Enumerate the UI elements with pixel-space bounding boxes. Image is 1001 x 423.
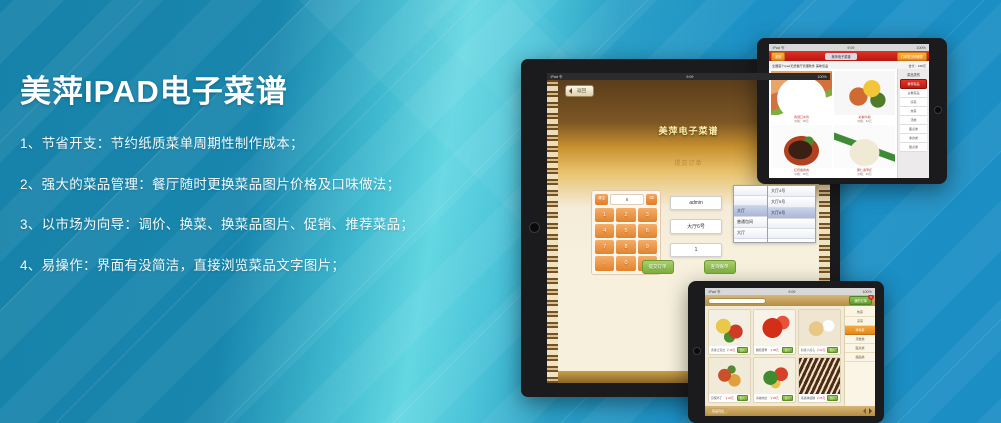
catalog-note-left: 全国首个ipad无纸餐厅管理软件 美味佳品 [772,63,828,68]
order-fields: admin 大厅6号 1 [670,196,722,266]
table-number-cell-5[interactable]: . [768,229,815,239]
dish-footer: 黑森林蛋糕 ￥26元 加入 [799,394,840,402]
dish-footer: 香辣土豆丝 ￥18元 加入 [709,346,750,354]
dish-name: 糖醋里脊 [756,348,767,352]
keypad-key-7[interactable]: 7 [595,240,614,254]
backspace-icon[interactable]: ⌫ [646,194,657,205]
dish-price: ￥38元 [770,348,779,352]
menu-app: 我的订单 6 香辣土豆丝 ￥18元 加入 [705,295,875,416]
menu-dish-card[interactable]: 黑森林蛋糕 ￥26元 加入 [798,357,841,403]
menu-header: 我的订单 6 [705,295,875,306]
keypad-key-1[interactable]: 1 [595,208,614,222]
table-area-cell-1[interactable]: . [734,186,767,196]
catalog-title: 美萍电子菜谱 [825,53,856,60]
dish-image [754,358,795,394]
sidebar-item-dessert[interactable]: 甜点类 [900,143,927,152]
screen-topright: iPad 令 9:09 100% 返回 美萍电子菜谱 订单提交明细表 全国首个i… [769,44,929,178]
table-area-cell-3[interactable]: 大厅 [734,206,767,217]
keypad-key-5[interactable]: 5 [616,224,635,238]
table-area-cell-2[interactable]: . [734,196,767,206]
banner-copy: 美萍IPAD电子菜谱 1、节省开支：节约纸质菜单周期性制作成本； 2、强大的菜品… [20,66,460,299]
promo-banner: 美萍IPAD电子菜谱 1、节省开支：节约纸质菜单周期性制作成本； 2、强大的菜品… [0,0,1001,423]
feature-bullet-4: 4、易操作：界面有没简洁，直接浏览菜品文字图片； [20,259,460,273]
add-to-order-button[interactable]: 加入 [827,347,838,353]
home-button-topright[interactable] [934,106,942,114]
catalog-app: 返回 美萍电子菜谱 订单提交明细表 全国首个ipad无纸餐厅管理软件 美味佳品 … [769,51,929,178]
dish-image [709,358,750,394]
sidebar-item-dessert[interactable]: 甜品类 [845,353,875,362]
add-to-order-button[interactable]: 加入 [737,347,748,353]
catalog-back-button[interactable]: 返回 [771,52,785,61]
status-bar-clock-br: 9:09 [788,289,795,294]
pager-controls [863,408,872,414]
dish-price: 价格：38元 [771,119,832,123]
keypad-display: 6 [610,194,644,205]
sidebar-title: 菜品类别 [900,71,927,79]
menu-body: 香辣土豆丝 ￥18元 加入 糖醋里脊 ￥38元 加入 [705,306,875,406]
table-number-cell-1[interactable]: 大厅4号 [768,186,815,197]
dish-footer: 宫保鸡丁 ￥32元 加入 [709,394,750,402]
menu-category-sidebar: 热菜 凉菜 特色菜 汤羹类 面点类 甜品类 [844,306,875,406]
status-bar-carrier-br: iPad 令 [709,289,721,294]
sidebar-item-hot[interactable]: 热菜 [900,107,927,116]
sidebar-item-pastry[interactable]: 面点类 [900,125,927,134]
keypad-clear-button[interactable]: 清空 [595,194,608,205]
keypad-key-8[interactable]: 8 [616,240,635,254]
catalog-body: 香辣口水鸡 价格：38元 彩椒牛柳 价格：42元 红烧酱香肉 价格：48元 [769,69,929,178]
ipad-device-bottomright: iPad 令 9:09 100% 我的订单 6 [688,281,884,423]
dish-price: ￥26元 [817,396,826,400]
sidebar-item-specialty[interactable]: 特色菜 [845,326,875,335]
keypad-key-4[interactable]: 4 [595,224,614,238]
home-button-main[interactable] [529,222,540,233]
catalog-dish-grid: 香辣口水鸡 价格：38元 彩椒牛柳 价格：42元 红烧酱香肉 价格：48元 [769,69,897,178]
feature-bullet-3: 3、以市场为向导：调价、换菜、换菜品图片、促销、推荐菜品； [20,218,460,232]
keypad-top-row: 清空 6 ⌫ [595,194,657,205]
catalog-header: 返回 美萍电子菜谱 订单提交明细表 [769,51,929,61]
sidebar-item-soup[interactable]: 汤类 [900,116,927,125]
sidebar-item-vegetarian[interactable]: 素食类 [900,134,927,143]
status-bar-clock: 9:09 [686,74,693,79]
status-bar-battery-br: 100% [862,289,871,294]
menu-dish-card[interactable]: 糖醋里脊 ￥38元 加入 [753,309,796,355]
add-to-order-button[interactable]: 加入 [782,395,793,401]
catalog-note-right: 合计：168元 [908,63,926,68]
submit-order-button[interactable]: 提交订单 [642,260,674,274]
keypad-key-3[interactable]: 3 [638,208,657,222]
dish-footer: 奶香小点心 ￥22元 加入 [799,346,840,354]
ipad-device-topright: iPad 令 9:09 100% 返回 美萍电子菜谱 订单提交明细表 全国首个i… [757,38,947,184]
status-bar-topright: iPad 令 9:09 100% [769,44,929,51]
dish-price: 价格：40元 [834,172,895,176]
menu-dish-grid: 香辣土豆丝 ￥18元 加入 糖醋里脊 ￥38元 加入 [705,306,844,406]
sidebar-item-recommended[interactable]: 推荐菜品 [900,79,927,89]
menu-dish-card[interactable]: 宫保鸡丁 ￥32元 加入 [708,357,751,403]
table-area-cell-4[interactable]: 普通包间 [734,217,767,228]
status-bar-carrier-tr: iPad 令 [773,45,785,50]
table-selection-panel[interactable]: . . 大厅 普通包间 大厅 大厅4号 大厅5号 大厅6号 . . [733,185,816,243]
query-bill-button[interactable]: 查询账单 [704,260,736,274]
table-number-cell-2[interactable]: 大厅5号 [768,197,815,208]
home-button-bottomright[interactable] [693,347,701,355]
back-button[interactable]: 返回 [565,85,594,97]
dish-image [834,125,895,169]
table-number-cell-4[interactable]: . [768,219,815,229]
feature-bullet-2: 2、强大的菜品管理：餐厅随时更换菜品图片价格及口味做法； [20,178,460,192]
catalog-category-sidebar: 菜品类别 推荐菜品 主推菜品 凉菜 热菜 汤类 面点类 素食类 甜点类 [897,69,929,178]
count-field[interactable]: 1 [670,243,722,257]
search-input[interactable] [708,298,766,304]
table-number-cell-3[interactable]: 大厅6号 [768,208,815,219]
table-field[interactable]: 大厅6号 [670,219,722,234]
dish-card[interactable]: 果仁翡翠虾 价格：40元 [834,125,895,177]
add-to-order-button[interactable]: 加入 [827,395,838,401]
status-bar-main: iPad 令 9:09 100% [547,73,830,80]
next-page-icon[interactable] [869,408,872,414]
dish-footer: 糖醋里脊 ￥38元 加入 [754,346,795,354]
dish-list-tab[interactable]: 菜品列表 [708,408,728,414]
keypad-key-9[interactable]: 9 [638,240,657,254]
dish-image [799,310,840,346]
add-to-order-button[interactable]: 加入 [782,347,793,353]
my-order-label: 我的订单 [854,299,867,303]
screen-bottomright: iPad 令 9:09 100% 我的订单 6 [705,288,875,416]
dish-price: ￥28元 [770,396,779,400]
page-title: 美萍IPAD电子菜谱 [20,66,460,111]
dish-name: 青椒肉丝 [756,396,767,400]
sidebar-item-cold[interactable]: 凉菜 [900,98,927,107]
feature-bullet-1: 1、节省开支：节约纸质菜单周期性制作成本； [20,137,460,151]
status-bar-bottomright: iPad 令 9:09 100% [705,288,875,295]
dish-price: 价格：48元 [771,172,832,176]
action-button-row: 提交订单 查询账单 [547,260,830,274]
user-field[interactable]: admin [670,196,722,210]
status-bar-clock-tr: 9:09 [847,45,854,50]
keypad-key-6[interactable]: 6 [638,224,657,238]
sidebar-item-cold[interactable]: 凉菜 [845,317,875,326]
sidebar-item-pastry[interactable]: 面点类 [845,344,875,353]
dish-price: ￥18元 [727,348,736,352]
order-detail-button[interactable]: 订单提交明细表 [897,52,927,61]
dish-name: 香辣土豆丝 [711,348,725,352]
menu-dish-card[interactable]: 奶香小点心 ￥22元 加入 [798,309,841,355]
dish-image [834,71,895,115]
add-to-order-button[interactable]: 加入 [737,395,748,401]
table-area-column: . . 大厅 普通包间 大厅 [734,186,768,242]
dish-card[interactable]: 彩椒牛柳 价格：42元 [834,71,895,123]
dish-footer: 青椒肉丝 ￥28元 加入 [754,394,795,402]
sidebar-item-hot[interactable]: 热菜 [845,308,875,317]
dish-name: 奶香小点心 [801,348,815,352]
keypad-key-2[interactable]: 2 [616,208,635,222]
sidebar-item-soup[interactable]: 汤羹类 [845,335,875,344]
dish-image [799,358,840,394]
dish-card[interactable]: 红烧酱香肉 价格：48元 [771,125,832,177]
dish-price: 价格：42元 [834,119,895,123]
dish-price: ￥32元 [725,396,734,400]
menu-dish-card[interactable]: 青椒肉丝 ￥28元 加入 [753,357,796,403]
menu-footer-bar: 菜品列表 [705,406,875,416]
dish-image [709,310,750,346]
my-order-button[interactable]: 我的订单 6 [849,296,872,305]
dish-price: ￥22元 [817,348,826,352]
dish-image [771,125,832,169]
dish-name: 黑森林蛋糕 [801,396,815,400]
table-area-cell-5[interactable]: 大厅 [734,228,767,239]
dish-name: 宫保鸡丁 [711,396,722,400]
dish-image [754,310,795,346]
sidebar-item-featured[interactable]: 主推菜品 [900,89,927,98]
status-bar-carrier: iPad 令 [551,74,563,79]
catalog-note: 全国首个ipad无纸餐厅管理软件 美味佳品 合计：168元 [769,61,929,69]
menu-dish-card[interactable]: 香辣土豆丝 ￥18元 加入 [708,309,751,355]
table-number-column: 大厅4号 大厅5号 大厅6号 . . [768,186,815,242]
status-bar-battery-tr: 100% [916,45,925,50]
previous-page-icon[interactable] [863,408,866,414]
status-bar-battery: 100% [817,74,826,79]
